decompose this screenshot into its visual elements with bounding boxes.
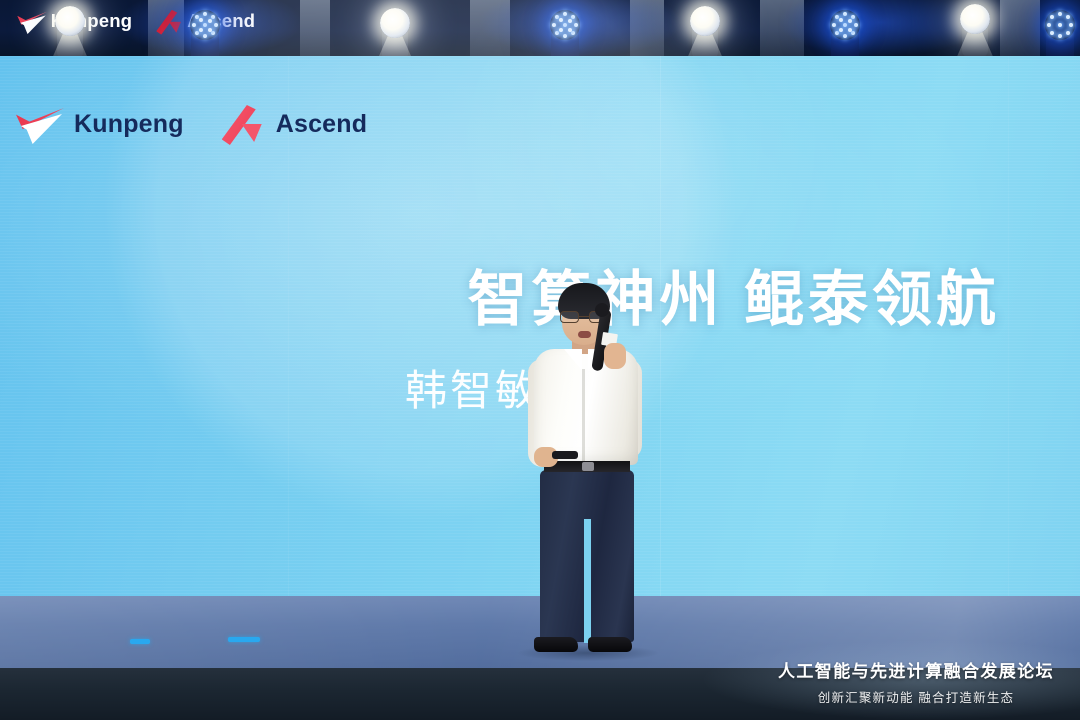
wall-logo-kunpeng-label: Kunpeng xyxy=(74,112,184,137)
speaker-shoe-left xyxy=(534,637,578,652)
speaker-shoe-right xyxy=(588,637,632,652)
wall-logo-ascend-label: Ascend xyxy=(276,112,368,137)
trouser-leg-gap xyxy=(584,519,591,643)
speaker-hand-with-microphone xyxy=(604,343,626,369)
wall-logo-ascend: Ascend xyxy=(220,102,368,146)
event-stage-photo: Kunpeng Ascend xyxy=(0,0,1080,720)
speaker-mouth xyxy=(578,331,591,338)
kunpeng-wing-icon xyxy=(14,102,64,146)
led-panel-seam xyxy=(1008,56,1009,596)
blue-led-par-light xyxy=(1040,10,1080,56)
kunpeng-wing-icon xyxy=(16,8,47,35)
forum-title: 人工智能与先进计算融合发展论坛 xyxy=(766,661,1066,683)
belt-buckle xyxy=(582,462,594,471)
blue-led-par-light xyxy=(825,10,865,56)
wall-logo-kunpeng: Kunpeng xyxy=(14,102,184,146)
floor-marker-tape xyxy=(130,639,150,644)
ascend-a-icon xyxy=(220,102,266,146)
truss-pillar xyxy=(1000,0,1040,56)
wall-logo-lockup: Kunpeng Ascend xyxy=(14,102,367,146)
forum-subtitle: 创新汇聚新动能 融合打造新生态 xyxy=(766,687,1066,706)
shirt-placket xyxy=(582,369,585,465)
slide-title: 智算神州 鲲泰领航 xyxy=(0,268,1000,333)
presentation-clicker xyxy=(552,451,578,459)
forum-branding: 人工智能与先进计算融合发展论坛 创新汇聚新动能 融合打造新生态 xyxy=(766,661,1066,706)
moving-head-spotlight xyxy=(955,4,995,54)
moving-head-spotlight xyxy=(50,6,90,56)
speaker-figure xyxy=(512,283,662,675)
floor-marker-tape xyxy=(228,637,260,642)
slide-speaker-name: 韩智敏 xyxy=(0,368,540,414)
